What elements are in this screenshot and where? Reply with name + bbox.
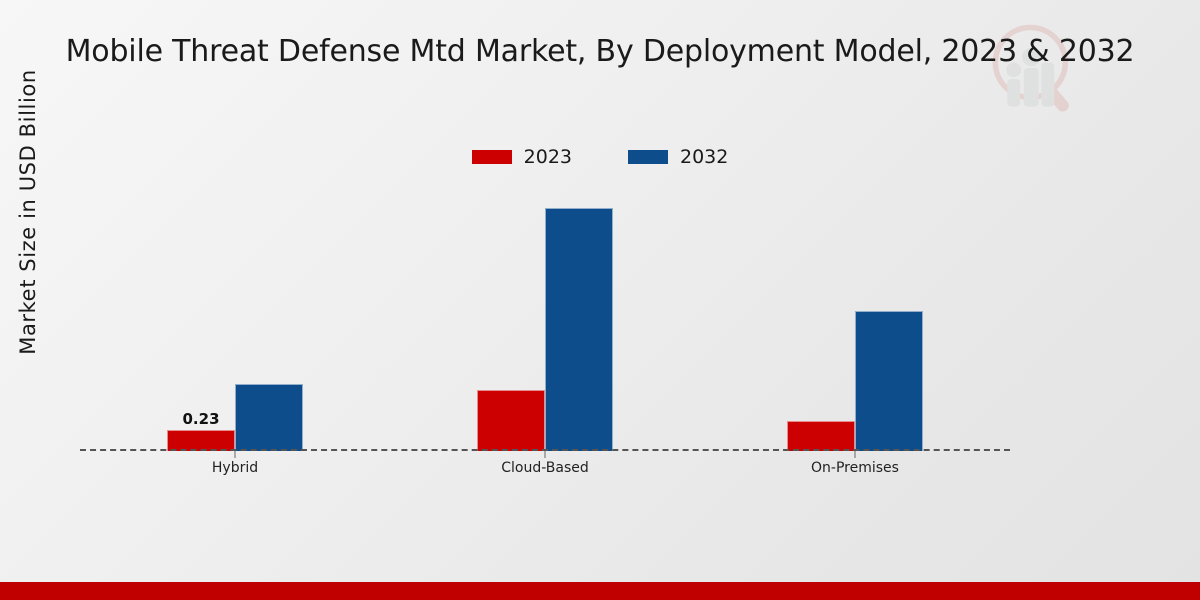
legend-label-2023: 2023 — [524, 146, 572, 168]
bar-group-0: 0.23 Hybrid — [80, 180, 390, 451]
bar-groups: 0.23 Hybrid Cloud-Based — [80, 180, 1010, 451]
x-label-2: On-Premises — [811, 460, 899, 476]
bar-pair-1 — [477, 180, 613, 451]
legend-swatch-2023 — [472, 150, 512, 164]
bar-pair-2 — [787, 180, 923, 451]
x-label-1: Cloud-Based — [501, 460, 589, 476]
x-tick-0 — [235, 451, 236, 458]
chart-title: Mobile Threat Defense Mtd Market, By Dep… — [0, 34, 1200, 69]
y-axis-title: Market Size in USD Billion — [16, 32, 40, 392]
legend-item-2023[interactable]: 2023 — [472, 146, 572, 168]
legend-item-2032[interactable]: 2032 — [628, 146, 728, 168]
bar-2023-2[interactable] — [787, 421, 855, 451]
plot-area: 0.23 Hybrid Cloud-Based — [80, 180, 1010, 451]
bar-group-1: Cloud-Based — [390, 180, 700, 451]
x-tick-1 — [545, 451, 546, 458]
bar-2032-1[interactable] — [545, 208, 613, 451]
legend-label-2032: 2032 — [680, 146, 728, 168]
bar-group-2: On-Premises — [700, 180, 1010, 451]
bottom-accent-band — [0, 582, 1200, 600]
x-label-0: Hybrid — [212, 460, 258, 476]
bar-2023-0[interactable]: 0.23 — [167, 430, 235, 452]
bar-2032-2[interactable] — [855, 311, 923, 451]
x-axis-baseline — [80, 449, 1010, 451]
chart-legend: 2023 2032 — [0, 146, 1200, 168]
bar-value-2023-0: 0.23 — [182, 410, 219, 428]
legend-swatch-2032 — [628, 150, 668, 164]
bar-2032-0[interactable] — [235, 384, 303, 451]
bar-pair-0: 0.23 — [167, 180, 303, 451]
bar-2023-1[interactable] — [477, 390, 545, 451]
x-tick-2 — [855, 451, 856, 458]
